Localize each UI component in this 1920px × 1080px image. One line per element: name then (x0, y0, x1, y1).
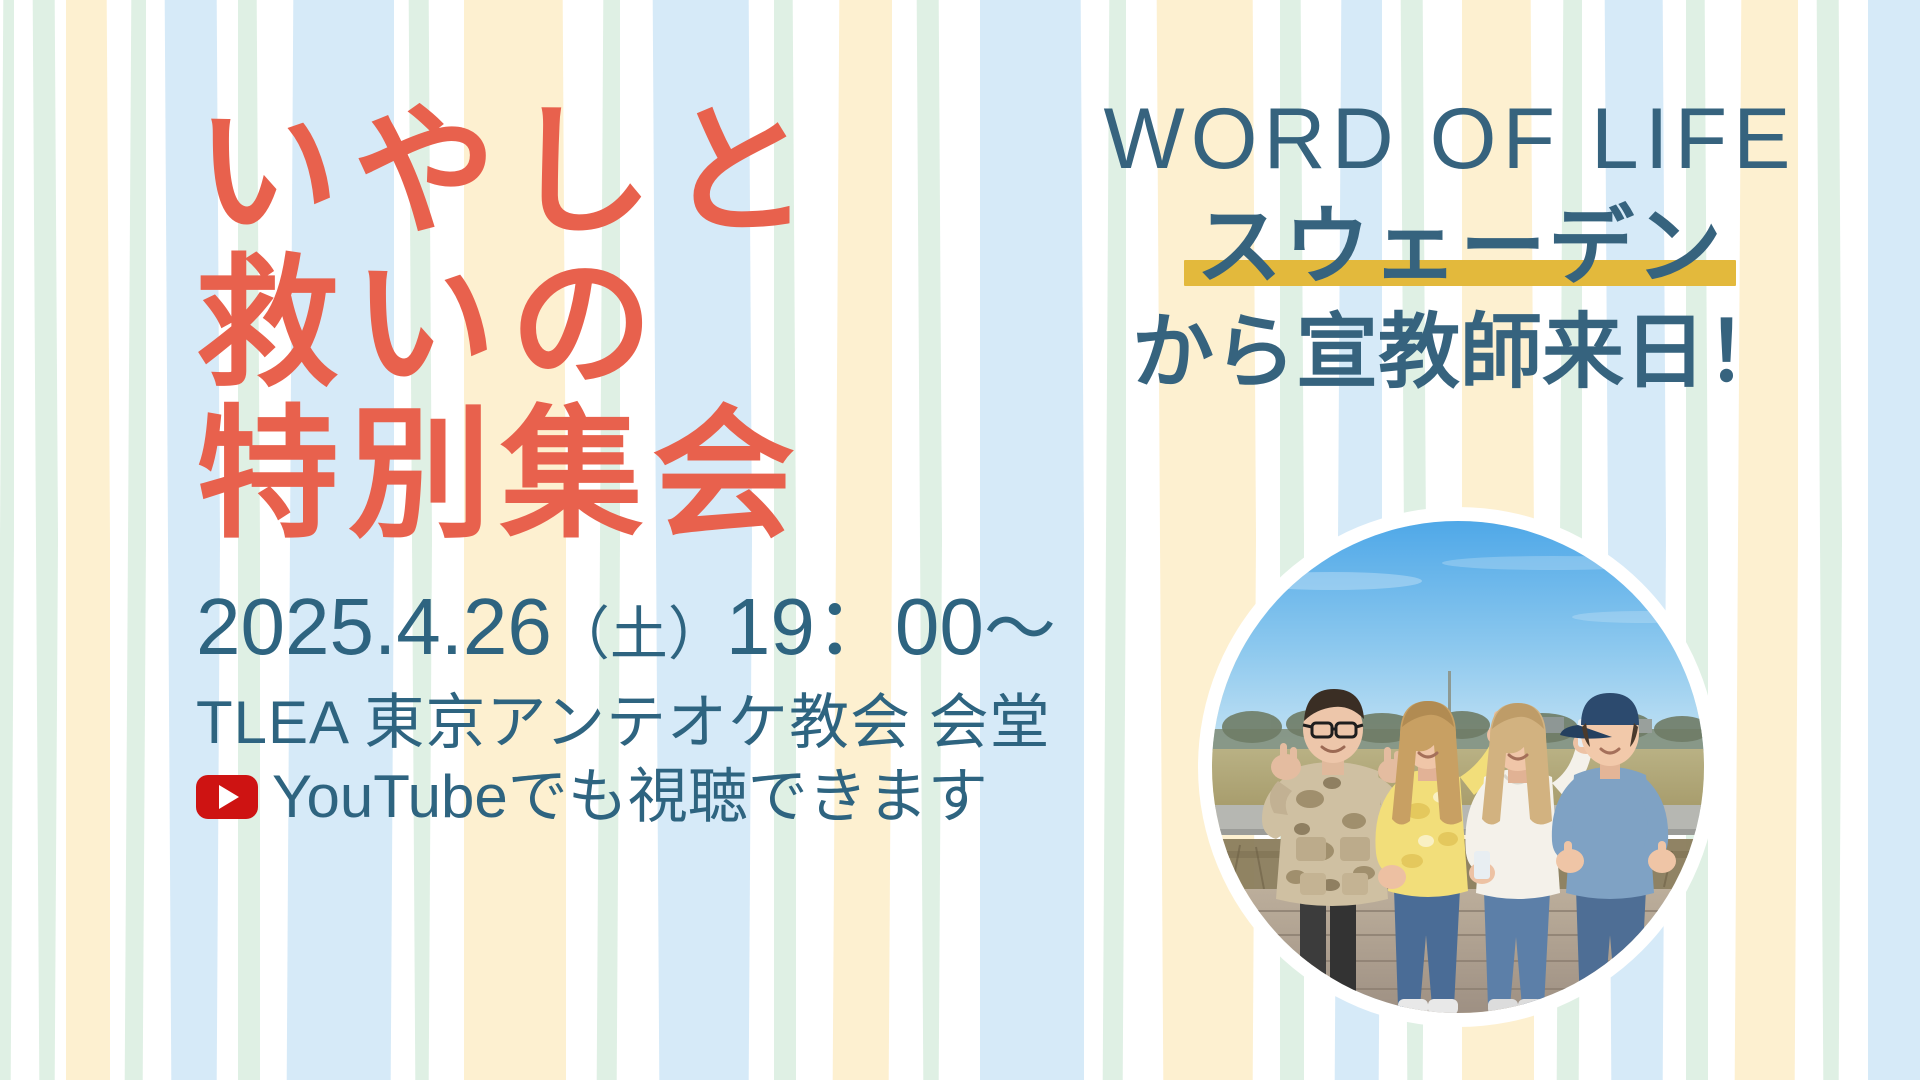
event-datetime: 2025.4.26（土）19：00〜 (196, 587, 1056, 667)
background-stripe (14, 0, 36, 1080)
guest-announcement: から宣教師来日！ (1060, 310, 1860, 396)
streaming-note: YouTubeでも視聴できます (196, 767, 1056, 827)
venue-text: TLEA 東京アンテオケ教会 会堂 (196, 693, 1056, 753)
organization-name: WORD OF LIFE (1040, 96, 1860, 182)
youtube-play-icon (196, 775, 258, 819)
streaming-text: YouTubeでも視聴できます (272, 767, 988, 827)
event-date: 2025.4.26 (196, 587, 552, 667)
country-highlight-wrap: スウェーデン (1196, 202, 1724, 292)
group-photo (1212, 521, 1704, 1013)
event-time: 19：00 (726, 587, 984, 667)
country-name: スウェーデン (1196, 197, 1724, 297)
background-stripe (66, 0, 110, 1080)
main-title-line-1: いやしと (196, 96, 1056, 248)
poster-canvas: いやしと 救いの 特別集会 2025.4.26（土）19：00〜 TLEA 東京… (0, 0, 1920, 1080)
background-stripe (146, 0, 168, 1080)
left-content-column: いやしと 救いの 特別集会 2025.4.26（土）19：00〜 TLEA 東京… (196, 96, 1056, 827)
event-time-suffix: 〜 (984, 594, 1056, 666)
event-day-of-week: （土） (552, 606, 726, 664)
main-title-line-3: 特別集会 (196, 399, 1056, 551)
background-stripe (1868, 0, 1920, 1080)
main-title-line-2: 救いの (196, 248, 1056, 400)
right-content-column: WORD OF LIFE スウェーデン から宣教師来日！ (1060, 96, 1860, 396)
